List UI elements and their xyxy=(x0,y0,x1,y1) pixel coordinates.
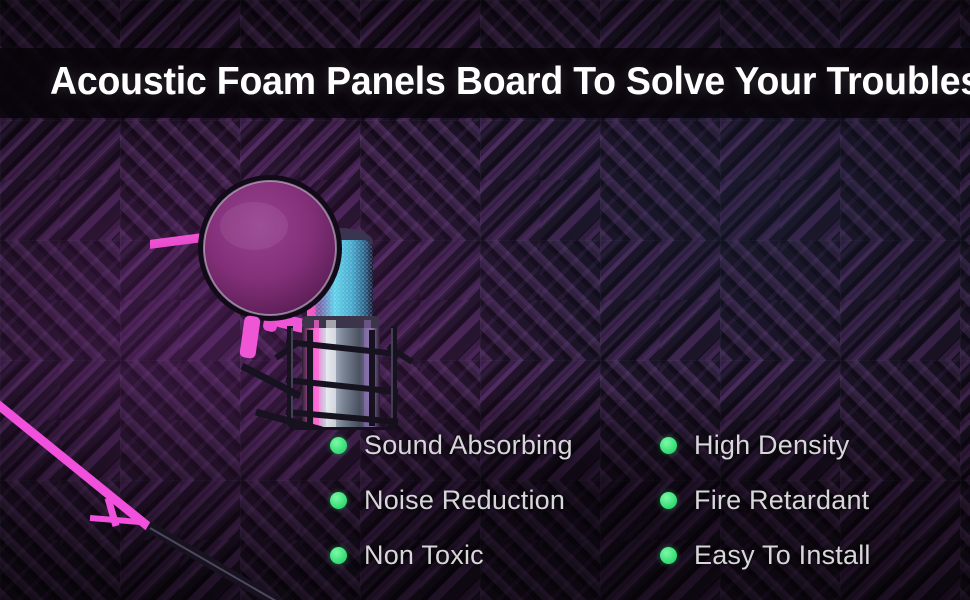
feature-label: Easy To Install xyxy=(694,540,871,571)
feature-label: Fire Retardant xyxy=(694,485,869,516)
bullet-icon xyxy=(660,437,677,454)
bullet-icon xyxy=(330,492,347,509)
pop-filter-mount xyxy=(239,315,261,359)
page-title: Acoustic Foam Panels Board To Solve Your… xyxy=(50,56,895,108)
feature-list: Sound Absorbing High Density Noise Reduc… xyxy=(330,418,950,583)
feature-label: High Density xyxy=(694,430,849,461)
feature-label: Noise Reduction xyxy=(364,485,565,516)
feature-item-easy-to-install: Easy To Install xyxy=(660,540,950,571)
product-banner: Acoustic Foam Panels Board To Solve Your… xyxy=(0,0,970,600)
feature-label: Sound Absorbing xyxy=(364,430,573,461)
pop-filter xyxy=(198,175,342,321)
bullet-icon xyxy=(330,547,347,564)
feature-label: Non Toxic xyxy=(364,540,484,571)
feature-item-noise-reduction: Noise Reduction xyxy=(330,485,660,516)
bullet-icon xyxy=(660,547,677,564)
bullet-icon xyxy=(330,437,347,454)
boom-arm-lower xyxy=(0,380,350,600)
feature-item-high-density: High Density xyxy=(660,430,950,461)
feature-item-sound-absorbing: Sound Absorbing xyxy=(330,430,660,461)
bullet-icon xyxy=(660,492,677,509)
feature-item-non-toxic: Non Toxic xyxy=(330,540,660,571)
feature-item-fire-retardant: Fire Retardant xyxy=(660,485,950,516)
